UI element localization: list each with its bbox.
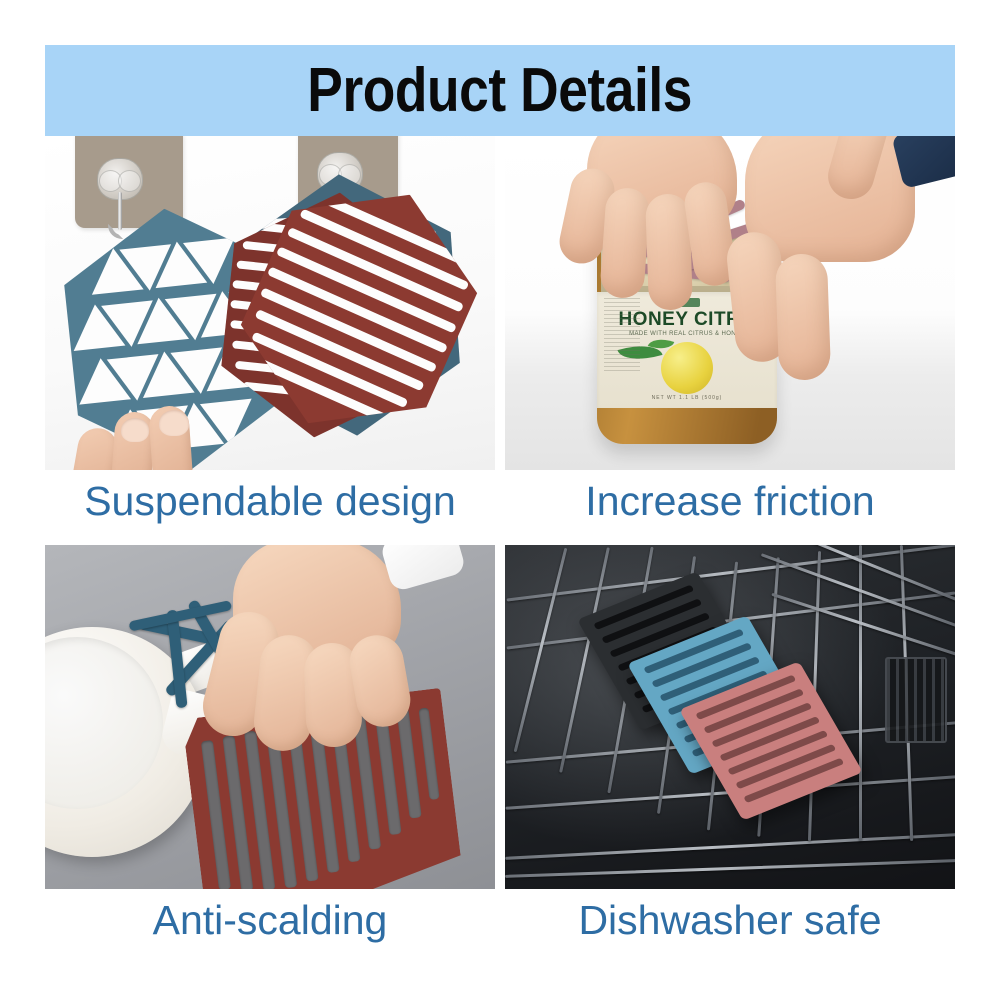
page-title-banner: Product Details	[45, 45, 955, 136]
caption-anti-scalding: Anti-scalding	[45, 889, 495, 951]
fingernail	[121, 418, 149, 442]
jar-label-footer: NET WT 1.1 LB (500g)	[597, 395, 777, 401]
page-title: Product Details	[308, 60, 693, 122]
product-details-page: Product Details	[0, 0, 1000, 1000]
hand-holding-pot	[205, 545, 455, 739]
caption-text: Suspendable design	[84, 481, 456, 522]
panel-anti-scalding: Anti-scalding	[45, 545, 495, 951]
cutlery-basket	[885, 657, 947, 743]
photo-dishwasher-safe	[505, 545, 955, 889]
fingernail	[159, 410, 189, 436]
caption-increase-friction: Increase friction	[505, 470, 955, 532]
caption-text: Dishwasher safe	[578, 900, 881, 941]
panel-dishwasher-safe: Dishwasher safe	[505, 545, 955, 951]
caption-text: Increase friction	[585, 481, 874, 522]
hand-holding-trivet	[67, 398, 235, 470]
finger	[599, 187, 651, 300]
citron-fruit-icon	[661, 342, 713, 394]
caption-suspendable-design: Suspendable design	[45, 470, 495, 532]
caption-text: Anti-scalding	[153, 900, 388, 941]
thumb	[775, 253, 831, 381]
panel-grid: Suspendable design HONEY CITRO MADE WITH…	[45, 136, 955, 946]
panel-suspendable-design: Suspendable design	[45, 136, 495, 532]
photo-increase-friction: HONEY CITRO MADE WITH REAL CITRUS & HONE…	[505, 136, 955, 470]
photo-suspendable-design	[45, 136, 495, 470]
photo-anti-scalding	[45, 545, 495, 889]
caption-dishwasher-safe: Dishwasher safe	[505, 889, 955, 951]
panel-increase-friction: HONEY CITRO MADE WITH REAL CITRUS & HONE…	[505, 136, 955, 532]
